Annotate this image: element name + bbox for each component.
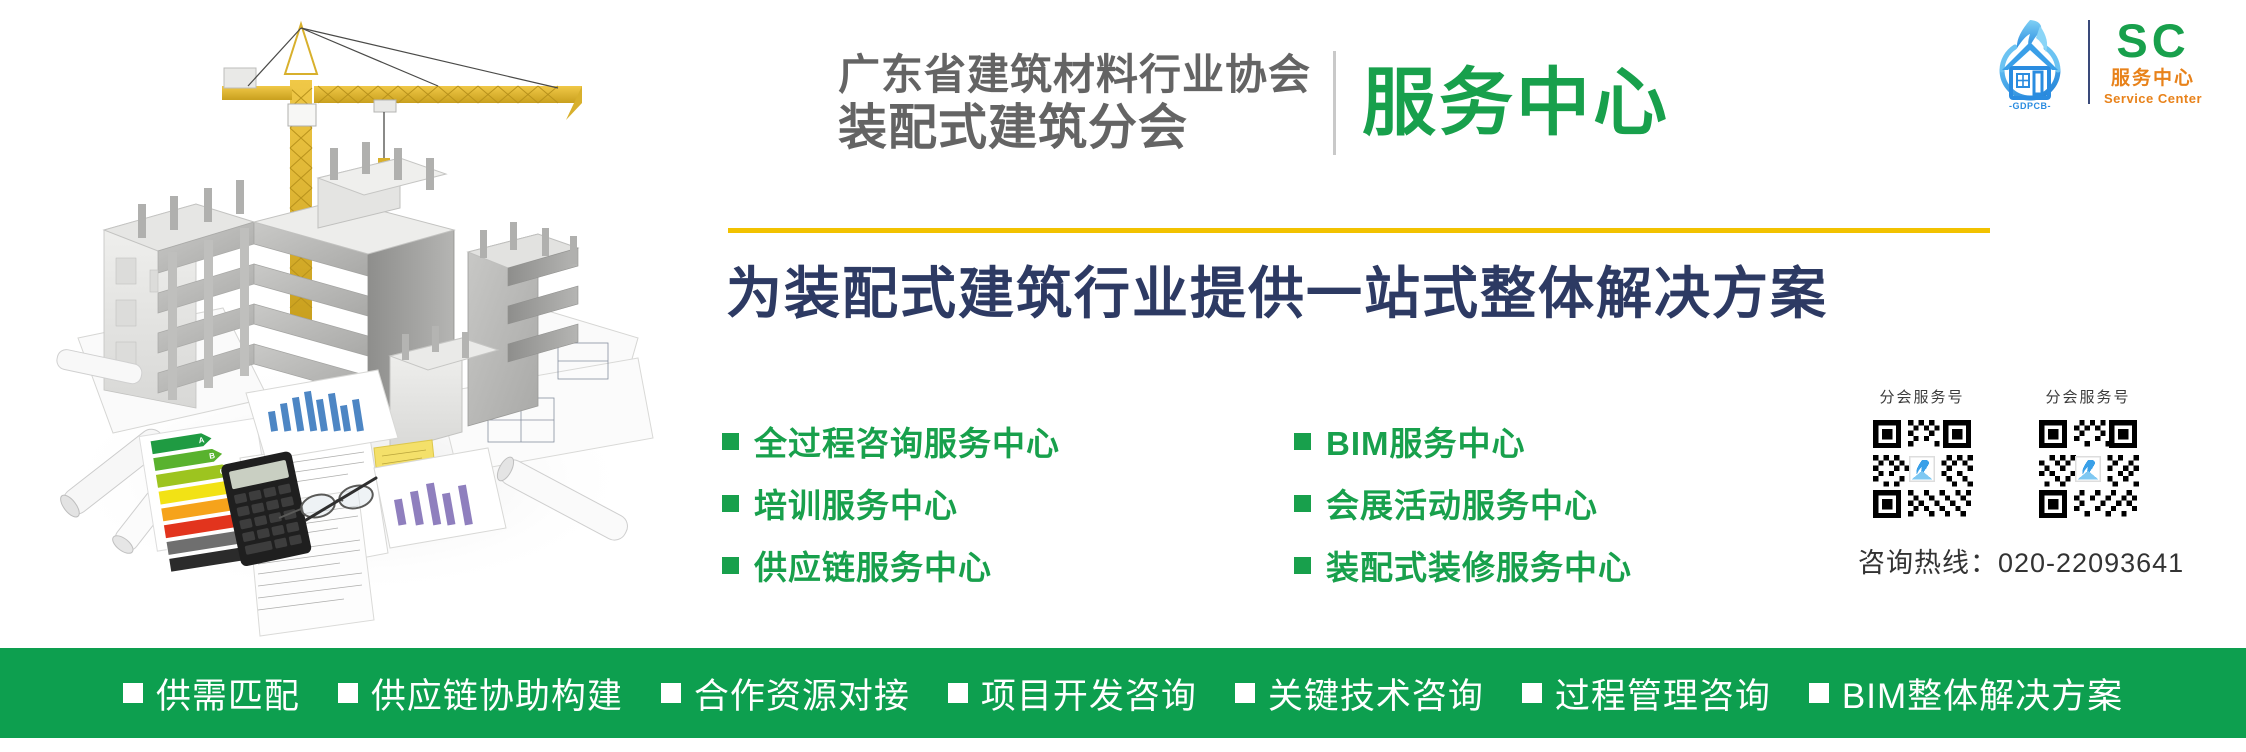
footer-tag[interactable]: 供应链协助构建 <box>338 668 623 719</box>
square-bullet-icon <box>948 683 968 703</box>
title-divider <box>1333 51 1336 155</box>
qr-label: 分会服务号 <box>1858 386 1986 407</box>
footer-tag[interactable]: 过程管理咨询 <box>1522 668 1771 719</box>
footer-tag-label: 关键技术咨询 <box>1268 668 1484 719</box>
brand-logo-block: -GDPCB- SC 服务中心 Service Center <box>1986 10 2236 114</box>
footer-tag-bar: 供需匹配 供应链协助构建 合作资源对接 项目开发咨询 关键技术咨询 过程管理咨询… <box>0 648 2246 738</box>
qr-row: 分会服务号 <box>1858 386 2224 525</box>
service-item[interactable]: 供应链服务中心 <box>722 534 1012 596</box>
qr-contact-block: 分会服务号 <box>1858 386 2224 580</box>
logo-divider <box>2088 20 2090 104</box>
square-bullet-icon <box>1294 557 1311 574</box>
house-flame-icon: -GDPCB- <box>1986 12 2074 112</box>
square-bullet-icon <box>1294 495 1311 512</box>
footer-tag-label: 供应链协助构建 <box>371 668 623 719</box>
sc-english-label: Service Center <box>2104 91 2202 107</box>
square-bullet-icon <box>123 683 143 703</box>
footer-tag[interactable]: 供需匹配 <box>123 668 300 719</box>
hero-construction-image: AB CD EF GH <box>18 8 658 638</box>
service-column-right: BIM服务中心 会展活动服务中心 装配式装修服务中心 <box>1294 410 1714 596</box>
square-bullet-icon <box>1235 683 1255 703</box>
association-line-2: 装配式建筑分会 <box>838 104 1311 153</box>
square-bullet-icon <box>338 683 358 703</box>
footer-tag[interactable]: BIM整体解决方案 <box>1809 668 2123 719</box>
service-column-left: 全过程咨询服务中心 培训服务中心 供应链服务中心 <box>722 410 1012 596</box>
sc-chinese-label: 服务中心 <box>2111 67 2195 91</box>
square-bullet-icon <box>722 433 739 450</box>
yellow-divider-rule <box>728 228 1990 233</box>
footer-tag[interactable]: 合作资源对接 <box>661 668 910 719</box>
square-bullet-icon <box>1294 433 1311 450</box>
service-center-title: 服务中心 <box>1362 66 1670 140</box>
service-item[interactable]: 全过程咨询服务中心 <box>722 410 1012 472</box>
association-title-block: 广东省建筑材料行业协会 装配式建筑分会 服务中心 <box>838 48 1898 158</box>
footer-tag-label: 项目开发咨询 <box>981 668 1197 719</box>
page-headline: 为装配式建筑行业提供一站式整体解决方案 <box>726 262 2016 326</box>
square-bullet-icon <box>1809 683 1829 703</box>
sc-logo: SC 服务中心 Service Center <box>2104 17 2202 106</box>
promo-banner: AB CD EF GH <box>0 0 2246 752</box>
association-line-1: 广东省建筑材料行业协会 <box>838 54 1311 96</box>
square-bullet-icon <box>722 495 739 512</box>
svg-text:-GDPCB-: -GDPCB- <box>2009 101 2051 111</box>
square-bullet-icon <box>661 683 681 703</box>
service-item-label: 供应链服务中心 <box>754 541 992 589</box>
footer-tag[interactable]: 关键技术咨询 <box>1235 668 1484 719</box>
service-item-label: 培训服务中心 <box>754 479 958 527</box>
qr-cell: 分会服务号 <box>1858 386 1986 525</box>
service-item[interactable]: 装配式装修服务中心 <box>1294 534 1714 596</box>
qr-code-icon[interactable] <box>2024 413 2152 525</box>
square-bullet-icon <box>1522 683 1542 703</box>
service-item-label: BIM服务中心 <box>1326 417 1526 465</box>
service-item-label: 全过程咨询服务中心 <box>754 417 1060 465</box>
footer-tag-label: 供需匹配 <box>156 668 300 719</box>
qr-code-icon[interactable] <box>1858 413 1986 525</box>
hotline-text: 咨询热线：020-22093641 <box>1858 541 2224 580</box>
service-item[interactable]: 会展活动服务中心 <box>1294 472 1714 534</box>
sc-letters: SC <box>2116 17 2189 64</box>
square-bullet-icon <box>722 557 739 574</box>
service-item[interactable]: 培训服务中心 <box>722 472 1012 534</box>
footer-tag-label: BIM整体解决方案 <box>1842 668 2123 719</box>
service-item[interactable]: BIM服务中心 <box>1294 410 1714 472</box>
service-item-label: 装配式装修服务中心 <box>1326 541 1632 589</box>
footer-tag[interactable]: 项目开发咨询 <box>948 668 1197 719</box>
footer-tag-label: 合作资源对接 <box>694 668 910 719</box>
qr-label: 分会服务号 <box>2024 386 2152 407</box>
service-center-lists: 全过程咨询服务中心 培训服务中心 供应链服务中心 BIM服务中心 会展活动服务中… <box>722 410 1782 596</box>
association-name: 广东省建筑材料行业协会 装配式建筑分会 <box>838 54 1311 153</box>
footer-tag-label: 过程管理咨询 <box>1555 668 1771 719</box>
qr-cell: 分会服务号 <box>2024 386 2152 525</box>
service-item-label: 会展活动服务中心 <box>1326 479 1598 527</box>
